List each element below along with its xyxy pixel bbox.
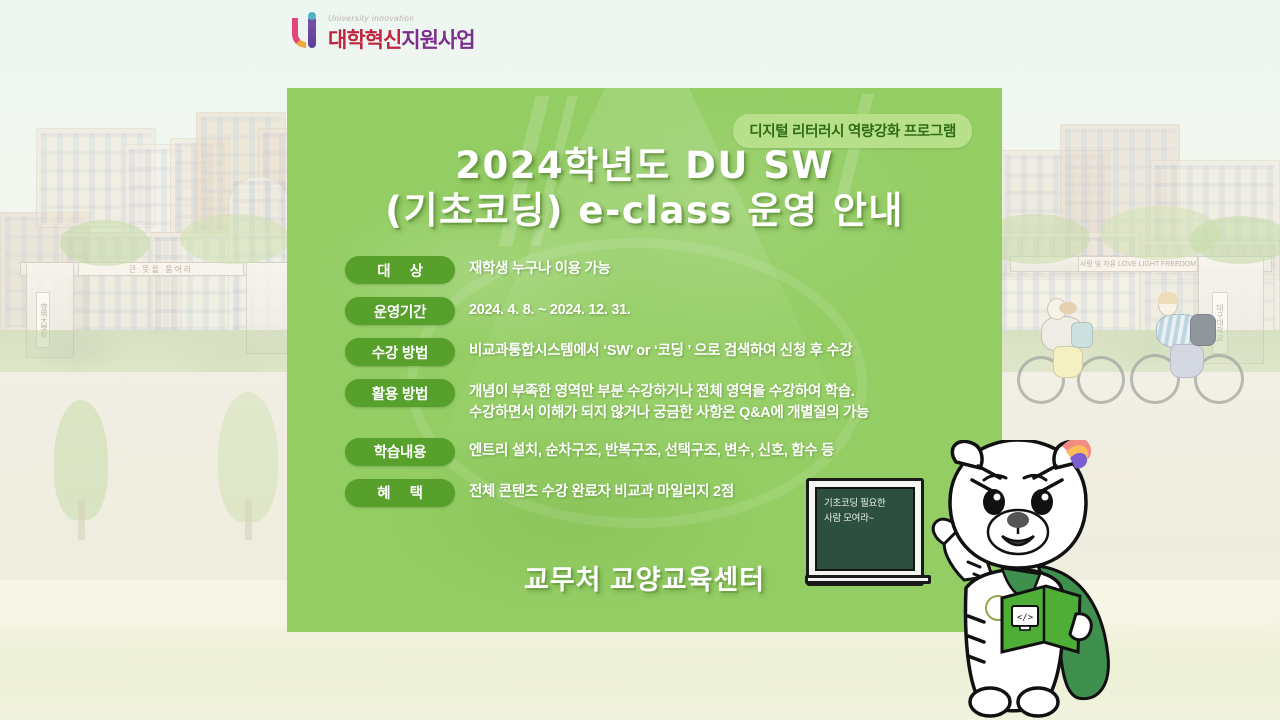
info-label-enrollment-method: 수강 방법 [345,338,455,366]
info-row-target: 대 상 재학생 누구나 이용 가능 [345,256,970,284]
logo-korean-text: 대학혁신지원사업 [328,24,475,54]
info-value-period: 2024. 4. 8. ~ 2024. 12. 31. [469,297,631,321]
logo-english-text: University innovation [328,14,475,23]
university-innovation-logo: University innovation 대학혁신지원사업 [292,14,475,54]
background-tree [180,214,290,264]
cyclist-legs [1053,346,1083,378]
info-label-period: 운영기간 [345,297,455,325]
logo-text-group: University innovation 대학혁신지원사업 [328,14,475,54]
tiger-mascot: </> [890,440,1140,720]
info-label-curriculum: 학습내용 [345,438,455,466]
poster-title-block: 2024학년도 DU SW (기초코딩) e-class 운영 안내 [287,143,1002,233]
info-row-curriculum: 학습내용 엔트리 설치, 순차구조, 반복구조, 선택구조, 변수, 신호, 함… [345,438,970,466]
eye-highlight [994,494,1001,501]
cyclist-backpack [1190,314,1216,346]
cyclist-hair [1158,292,1178,304]
info-value-usage-method: 개념이 부족한 영역만 부분 수강하거나 전체 영역을 수강하여 학습. 수강하… [469,379,869,425]
logo-korean-part1: 대학혁신 [328,29,401,52]
poster-title-line1: 2024학년도 DU SW [287,143,1002,188]
tiger-eye-left [983,489,1005,515]
logo-korean-part2: 지원사업 [401,29,474,52]
cyclist-backpack [1071,322,1093,348]
info-value-enrollment-method: 비교과통합시스템에서 ‘SW’ or ‘코딩 ’ 으로 검색하여 신청 후 수강 [469,338,852,362]
computer-stand [1020,626,1030,630]
info-label-usage-method: 활용 방법 [345,379,455,407]
poster-canvas: 큰 뜻을 품어라 啓明大學校 사랑 빛 자유 LOVE LIGHT FREEDO… [0,0,1280,720]
eye-highlight [1042,494,1049,501]
tiger-foot-right [1018,688,1058,716]
info-row-usage-method: 활용 방법 개념이 부족한 영역만 부분 수강하거나 전체 영역을 수강하여 학… [345,379,970,425]
info-value-benefit: 전체 콘텐츠 수강 완료자 비교과 마일리지 2점 [469,479,734,503]
info-value-curriculum: 엔트리 설치, 순차구조, 반복구조, 선택구조, 변수, 신호, 함수 등 [469,438,834,462]
info-label-target: 대 상 [345,256,455,284]
info-value-target: 재학생 누구나 이용 가능 [469,256,611,280]
info-row-period: 운영기간 2024. 4. 8. ~ 2024. 12. 31. [345,297,970,325]
poster-title-line2: (기초코딩) e-class 운영 안내 [287,188,1002,233]
bicycle-wheel [1077,356,1125,404]
logo-u-stroke [292,18,306,48]
background-tree [60,220,150,266]
tiger-mascot-illustration: </> [890,440,1140,720]
tiger-ear-left [952,441,982,468]
logo-j-stroke [308,18,316,48]
code-glyph: </> [1017,613,1034,623]
logo-dot [308,12,316,20]
tiger-foot-left [970,688,1010,716]
logo-u-mark-icon [292,14,322,54]
cyclist-right-figure [1128,296,1258,416]
cyclist-hair [1059,302,1077,314]
cyclist-legs [1170,344,1204,378]
info-row-enrollment-method: 수강 방법 비교과통합시스템에서 ‘SW’ or ‘코딩 ’ 으로 검색하여 신… [345,338,970,366]
cyclist-left-figure [1015,300,1135,415]
info-label-benefit: 혜 택 [345,479,455,507]
tiger-eye-right [1031,489,1053,515]
tiger-nose [1007,512,1029,528]
background-tree [1190,216,1280,264]
